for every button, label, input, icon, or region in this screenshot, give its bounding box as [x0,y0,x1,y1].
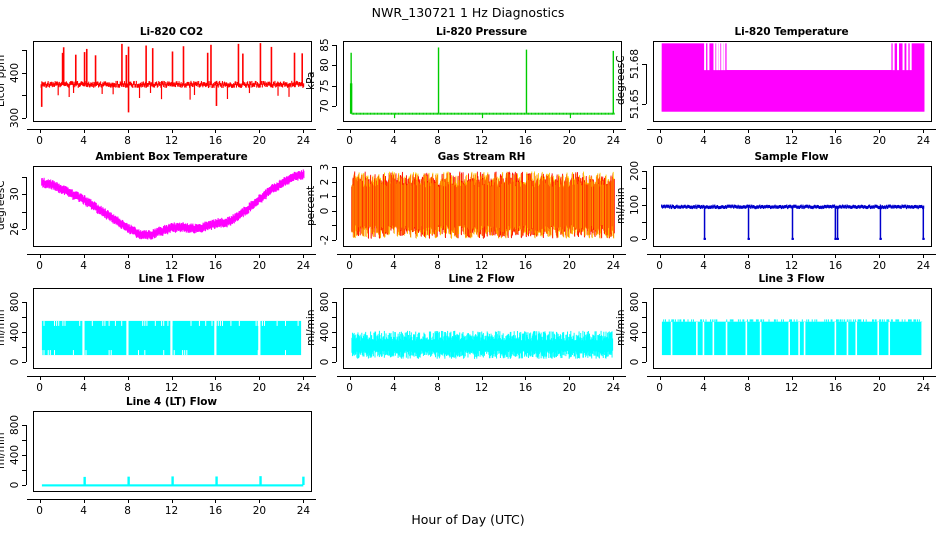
x-tick-line-3-flow-1 [704,376,705,380]
x-tick-line-3-flow-4 [835,376,836,380]
y-tick-label-li-820-pressure-3: 85 [319,38,331,51]
panel-title-line-2-flow: Line 2 Flow [343,273,620,285]
series-line-4-lt-flow [34,412,311,491]
x-tick-label-sample-flow-5: 20 [873,260,886,272]
series-gas-stream-rh [344,167,621,246]
x-tick-line-2-flow-5 [569,376,570,380]
plot-area-line-4-lt-flow [33,411,312,492]
y-tick-label-line-4-lt-flow-2: 800 [9,415,21,435]
panel-title-gas-stream-rh: Gas Stream RH [343,151,620,163]
y-tick-label-sample-flow-0: 0 [629,236,641,243]
x-tick-li-820-pressure-6 [613,129,614,133]
x-tick-li-820-pressure-5 [569,129,570,133]
y-tick-label-line-1-flow-1: 400 [9,322,21,342]
x-tick-line-1-flow-4 [215,376,216,380]
x-tick-label-li-820-co2-4: 16 [209,135,222,147]
x-tick-gas-stream-rh-4 [525,254,526,258]
x-tick-label-line-1-flow-5: 20 [253,382,266,394]
x-tick-gas-stream-rh-5 [569,254,570,258]
x-tick-gas-stream-rh-2 [438,254,439,258]
y-tick-line-1-flow-600 [22,317,26,318]
x-tick-label-gas-stream-rh-5: 20 [563,260,576,272]
x-tick-line-2-flow-4 [525,376,526,380]
x-tick-label-line-3-flow-1: 4 [700,382,707,394]
x-tick-line-4-lt-flow-1 [84,499,85,503]
y-tick-gas-stream-rh-2 [332,182,336,183]
y-axis-label-line-3-flow: ml/min [615,292,627,363]
y-tick-line-4-lt-flow-800 [22,425,26,426]
x-tick-line-2-flow-0 [350,376,351,380]
series-line-1-flow [34,289,311,368]
x-tick-li-820-temperature-2 [748,129,749,133]
series-li-820-co2 [34,42,311,121]
y-axis-label-ambient-box-temperature: degreesC [0,170,7,241]
x-tick-li-820-temperature-1 [704,129,705,133]
y-tick-li-820-pressure-85 [332,45,336,46]
y-tick-line-2-flow-200 [332,347,336,348]
page-title: NWR_130721 1 Hz Diagnostics [0,5,936,20]
x-tick-label-sample-flow-6: 24 [917,260,930,272]
x-tick-label-li-820-pressure-3: 12 [475,135,488,147]
x-tick-ambient-box-temperature-5 [259,254,260,258]
x-tick-label-gas-stream-rh-6: 24 [607,260,620,272]
x-tick-li-820-co2-2 [128,129,129,133]
x-tick-label-sample-flow-2: 8 [744,260,751,272]
x-tick-li-820-pressure-0 [350,129,351,133]
y-tick-sample-flow-0 [642,239,646,240]
y-tick-li-820-co2-300 [22,118,26,119]
series-li-820-pressure [344,42,621,121]
x-tick-label-sample-flow-4: 16 [829,260,842,272]
y-axis-gas-stream-rh [336,167,337,239]
x-tick-label-li-820-temperature-0: 0 [656,135,663,147]
y-tick-label-ambient-box-temperature-1: 30 [9,187,21,200]
x-tick-li-820-temperature-5 [879,129,880,133]
x-tick-label-li-820-temperature-5: 20 [873,135,886,147]
y-tick-label-line-1-flow-2: 800 [9,292,21,312]
x-tick-line-4-lt-flow-6 [303,499,304,503]
x-tick-label-line-2-flow-0: 0 [346,382,353,394]
x-tick-label-ambient-box-temperature-5: 20 [253,260,266,272]
x-tick-line-4-lt-flow-5 [259,499,260,503]
y-axis-line-1-flow [26,302,27,363]
x-tick-label-li-820-co2-2: 8 [124,135,131,147]
y-tick-line-2-flow-0 [332,362,336,363]
x-tick-line-1-flow-1 [84,376,85,380]
y-axis-li-820-temperature [646,64,647,104]
y-tick-label-li-820-pressure-2: 80 [319,59,331,72]
y-axis-label-line-2-flow: ml/min [305,292,317,363]
y-tick-label-sample-flow-2: 200 [629,161,641,181]
x-tick-label-li-820-pressure-2: 8 [434,135,441,147]
y-tick-line-3-flow-200 [642,347,646,348]
x-tick-line-4-lt-flow-0 [40,499,41,503]
y-tick-line-2-flow-600 [332,317,336,318]
y-tick-gas-stream-rh-1 [332,196,336,197]
y-tick-sample-flow-100 [642,205,646,206]
panel-title-li-820-pressure: Li-820 Pressure [343,26,620,38]
x-tick-label-sample-flow-0: 0 [656,260,663,272]
y-tick-label-line-2-flow-0: 0 [319,359,331,366]
x-tick-label-line-2-flow-2: 8 [434,382,441,394]
x-tick-label-li-820-co2-6: 24 [297,135,310,147]
x-tick-label-li-820-pressure-5: 20 [563,135,576,147]
plot-area-line-2-flow [343,288,622,369]
x-tick-sample-flow-3 [792,254,793,258]
x-tick-line-1-flow-6 [303,376,304,380]
x-tick-label-li-820-temperature-3: 12 [785,135,798,147]
x-tick-li-820-temperature-0 [660,129,661,133]
x-tick-label-gas-stream-rh-0: 0 [346,260,353,272]
y-tick-ambient-box-temperature-28 [22,212,26,213]
x-tick-label-line-3-flow-3: 12 [785,382,798,394]
y-axis-li-820-co2 [26,50,27,118]
x-tick-line-2-flow-6 [613,376,614,380]
series-ambient-box-temperature [34,167,311,246]
y-tick-line-1-flow-400 [22,332,26,333]
x-tick-line-4-lt-flow-3 [172,499,173,503]
x-tick-li-820-temperature-4 [835,129,836,133]
y-tick-line-4-lt-flow-400 [22,455,26,456]
x-tick-label-line-1-flow-1: 4 [80,382,87,394]
x-tick-sample-flow-6 [923,254,924,258]
x-tick-line-1-flow-5 [259,376,260,380]
y-tick-li-820-co2-350 [22,95,26,96]
y-tick-li-820-co2-450 [22,50,26,51]
y-axis-label-li-820-pressure: kPa [305,45,317,116]
y-tick-label-line-1-flow-0: 0 [9,359,21,366]
x-tick-label-li-820-pressure-4: 16 [519,135,532,147]
x-tick-line-3-flow-2 [748,376,749,380]
x-tick-label-li-820-pressure-1: 4 [390,135,397,147]
series-sample-flow [654,167,931,246]
x-tick-label-li-820-co2-1: 4 [80,135,87,147]
x-tick-label-line-2-flow-3: 12 [475,382,488,394]
plot-area-sample-flow [653,166,932,247]
panel-title-li-820-temperature: Li-820 Temperature [653,26,930,38]
x-tick-label-li-820-temperature-2: 8 [744,135,751,147]
panel-title-line-1-flow: Line 1 Flow [33,273,310,285]
y-tick-line-1-flow-0 [22,362,26,363]
y-axis-line-2-flow [336,302,337,363]
x-tick-label-line-1-flow-4: 16 [209,382,222,394]
x-tick-label-line-3-flow-0: 0 [656,382,663,394]
x-tick-line-3-flow-5 [879,376,880,380]
x-tick-label-line-2-flow-5: 20 [563,382,576,394]
x-tick-label-line-1-flow-6: 24 [297,382,310,394]
x-tick-label-sample-flow-3: 12 [785,260,798,272]
x-tick-label-line-2-flow-6: 24 [607,382,620,394]
x-tick-label-li-820-co2-0: 0 [36,135,43,147]
x-tick-gas-stream-rh-6 [613,254,614,258]
y-tick-li-820-temperature-51.68 [642,64,646,65]
x-tick-line-3-flow-0 [660,376,661,380]
x-tick-li-820-co2-1 [84,129,85,133]
x-tick-label-line-1-flow-0: 0 [36,382,43,394]
x-tick-li-820-co2-4 [215,129,216,133]
panel-title-line-4-lt-flow: Line 4 (LT) Flow [33,396,310,408]
x-tick-li-820-pressure-1 [394,129,395,133]
x-tick-line-2-flow-3 [482,376,483,380]
y-tick-label-line-3-flow-0: 0 [629,359,641,366]
plot-area-line-1-flow [33,288,312,369]
x-tick-label-gas-stream-rh-2: 8 [434,260,441,272]
x-tick-gas-stream-rh-0 [350,254,351,258]
y-axis-line-3-flow [646,302,647,363]
y-tick-li-820-pressure-80 [332,65,336,66]
x-tick-label-li-820-temperature-1: 4 [700,135,707,147]
x-tick-line-2-flow-1 [394,376,395,380]
y-tick-li-820-temperature-51.65 [642,104,646,105]
x-tick-label-ambient-box-temperature-0: 0 [36,260,43,272]
panel-title-line-3-flow: Line 3 Flow [653,273,930,285]
x-tick-line-1-flow-0 [40,376,41,380]
plot-area-li-820-pressure [343,41,622,122]
plot-area-line-3-flow [653,288,932,369]
x-tick-line-3-flow-3 [792,376,793,380]
x-tick-gas-stream-rh-3 [482,254,483,258]
y-tick-label-gas-stream-rh-2: 1 [319,193,331,200]
x-tick-ambient-box-temperature-2 [128,254,129,258]
y-tick-gas-stream-rh--2 [332,240,336,241]
y-axis-label-li-820-co2: Licor ppm [0,45,7,116]
y-tick-gas-stream-rh-3 [332,167,336,168]
y-tick-line-4-lt-flow-600 [22,440,26,441]
y-tick-line-2-flow-800 [332,302,336,303]
plot-area-li-820-co2 [33,41,312,122]
x-tick-label-li-820-temperature-6: 24 [917,135,930,147]
x-tick-line-4-lt-flow-4 [215,499,216,503]
x-tick-label-li-820-pressure-6: 24 [607,135,620,147]
y-axis-sample-flow [646,171,647,239]
y-tick-line-3-flow-600 [642,317,646,318]
y-tick-sample-flow-150 [642,188,646,189]
plot-area-ambient-box-temperature [33,166,312,247]
x-tick-sample-flow-5 [879,254,880,258]
x-tick-label-ambient-box-temperature-1: 4 [80,260,87,272]
x-tick-label-li-820-pressure-0: 0 [346,135,353,147]
y-axis-label-li-820-temperature: degreesC [615,45,627,116]
y-tick-label-li-820-pressure-1: 75 [319,79,331,92]
x-tick-label-line-3-flow-6: 24 [917,382,930,394]
y-tick-label-gas-stream-rh-3: 2 [319,179,331,186]
y-tick-label-line-4-lt-flow-0: 0 [9,482,21,489]
panel-title-li-820-co2: Li-820 CO2 [33,26,310,38]
x-tick-sample-flow-2 [748,254,749,258]
y-tick-line-3-flow-400 [642,332,646,333]
x-tick-li-820-pressure-3 [482,129,483,133]
x-tick-label-line-3-flow-4: 16 [829,382,842,394]
y-tick-sample-flow-50 [642,222,646,223]
x-tick-label-ambient-box-temperature-6: 24 [297,260,310,272]
x-tick-label-line-1-flow-3: 12 [165,382,178,394]
y-tick-label-li-820-temperature-1: 51.68 [629,49,641,79]
y-axis-label-line-4-lt-flow: ml/min [0,415,7,486]
x-tick-label-ambient-box-temperature-2: 8 [124,260,131,272]
x-tick-label-gas-stream-rh-1: 4 [390,260,397,272]
y-axis-label-line-1-flow: ml/min [0,292,7,363]
x-tick-label-gas-stream-rh-3: 12 [475,260,488,272]
y-tick-label-li-820-temperature-0: 51.65 [629,89,641,119]
y-tick-gas-stream-rh--1 [332,225,336,226]
x-tick-ambient-box-temperature-4 [215,254,216,258]
y-axis-li-820-pressure [336,45,337,106]
x-tick-line-4-lt-flow-2 [128,499,129,503]
y-tick-li-820-co2-400 [22,73,26,74]
x-tick-li-820-pressure-4 [525,129,526,133]
panel-title-ambient-box-temperature: Ambient Box Temperature [33,151,310,163]
x-tick-label-line-2-flow-1: 4 [390,382,397,394]
x-tick-label-ambient-box-temperature-4: 16 [209,260,222,272]
y-tick-label-ambient-box-temperature-0: 26 [9,223,21,236]
y-tick-label-line-3-flow-2: 800 [629,292,641,312]
x-tick-ambient-box-temperature-3 [172,254,173,258]
x-tick-li-820-temperature-3 [792,129,793,133]
x-tick-li-820-co2-5 [259,129,260,133]
x-tick-line-1-flow-3 [172,376,173,380]
y-tick-label-li-820-co2-1: 400 [9,63,21,83]
x-tick-label-sample-flow-1: 4 [700,260,707,272]
y-tick-line-2-flow-400 [332,332,336,333]
y-tick-label-li-820-co2-0: 300 [9,108,21,128]
x-tick-li-820-co2-0 [40,129,41,133]
x-tick-label-gas-stream-rh-4: 16 [519,260,532,272]
series-line-2-flow [344,289,621,368]
y-tick-sample-flow-200 [642,171,646,172]
x-tick-li-820-co2-6 [303,129,304,133]
y-tick-label-gas-stream-rh-1: 0 [319,208,331,215]
y-tick-label-line-2-flow-2: 800 [319,292,331,312]
x-tick-label-li-820-co2-5: 20 [253,135,266,147]
y-axis-ambient-box-temperature [26,177,27,230]
y-tick-li-820-pressure-75 [332,86,336,87]
x-tick-sample-flow-1 [704,254,705,258]
x-tick-gas-stream-rh-1 [394,254,395,258]
panel-title-sample-flow: Sample Flow [653,151,930,163]
y-tick-ambient-box-temperature-26 [22,229,26,230]
global-x-axis-label: Hour of Day (UTC) [0,512,936,527]
y-axis-label-sample-flow: ml/min [615,170,627,241]
x-tick-label-li-820-temperature-4: 16 [829,135,842,147]
plot-area-gas-stream-rh [343,166,622,247]
x-tick-label-line-2-flow-4: 16 [519,382,532,394]
x-tick-label-line-1-flow-2: 8 [124,382,131,394]
x-tick-sample-flow-0 [660,254,661,258]
plot-area-li-820-temperature [653,41,932,122]
y-tick-li-820-pressure-70 [332,106,336,107]
y-tick-label-gas-stream-rh-4: 3 [319,164,331,171]
y-tick-line-1-flow-200 [22,347,26,348]
y-tick-ambient-box-temperature-30 [22,194,26,195]
x-tick-label-line-3-flow-5: 20 [873,382,886,394]
y-tick-line-4-lt-flow-0 [22,485,26,486]
y-axis-line-4-lt-flow [26,425,27,486]
y-tick-label-line-4-lt-flow-1: 400 [9,445,21,465]
x-tick-sample-flow-4 [835,254,836,258]
x-tick-line-3-flow-6 [923,376,924,380]
y-tick-ambient-box-temperature-32 [22,177,26,178]
x-tick-li-820-temperature-6 [923,129,924,133]
x-tick-label-line-3-flow-2: 8 [744,382,751,394]
x-tick-ambient-box-temperature-0 [40,254,41,258]
y-tick-label-line-2-flow-1: 400 [319,322,331,342]
y-tick-label-gas-stream-rh-0: -2 [319,235,331,245]
y-tick-label-sample-flow-1: 100 [629,195,641,215]
y-tick-line-1-flow-800 [22,302,26,303]
x-tick-label-li-820-co2-3: 12 [165,135,178,147]
y-tick-gas-stream-rh-0 [332,211,336,212]
y-tick-label-line-3-flow-1: 400 [629,322,641,342]
y-tick-line-3-flow-0 [642,362,646,363]
x-tick-li-820-pressure-2 [438,129,439,133]
y-tick-line-4-lt-flow-200 [22,470,26,471]
x-tick-ambient-box-temperature-6 [303,254,304,258]
series-li-820-temperature [654,42,931,121]
x-tick-line-2-flow-2 [438,376,439,380]
y-axis-label-gas-stream-rh: percent [305,170,317,241]
series-line-3-flow [654,289,931,368]
x-tick-line-1-flow-2 [128,376,129,380]
y-tick-label-li-820-pressure-0: 70 [319,99,331,112]
x-tick-li-820-co2-3 [172,129,173,133]
x-tick-label-ambient-box-temperature-3: 12 [165,260,178,272]
y-tick-line-3-flow-800 [642,302,646,303]
x-tick-ambient-box-temperature-1 [84,254,85,258]
